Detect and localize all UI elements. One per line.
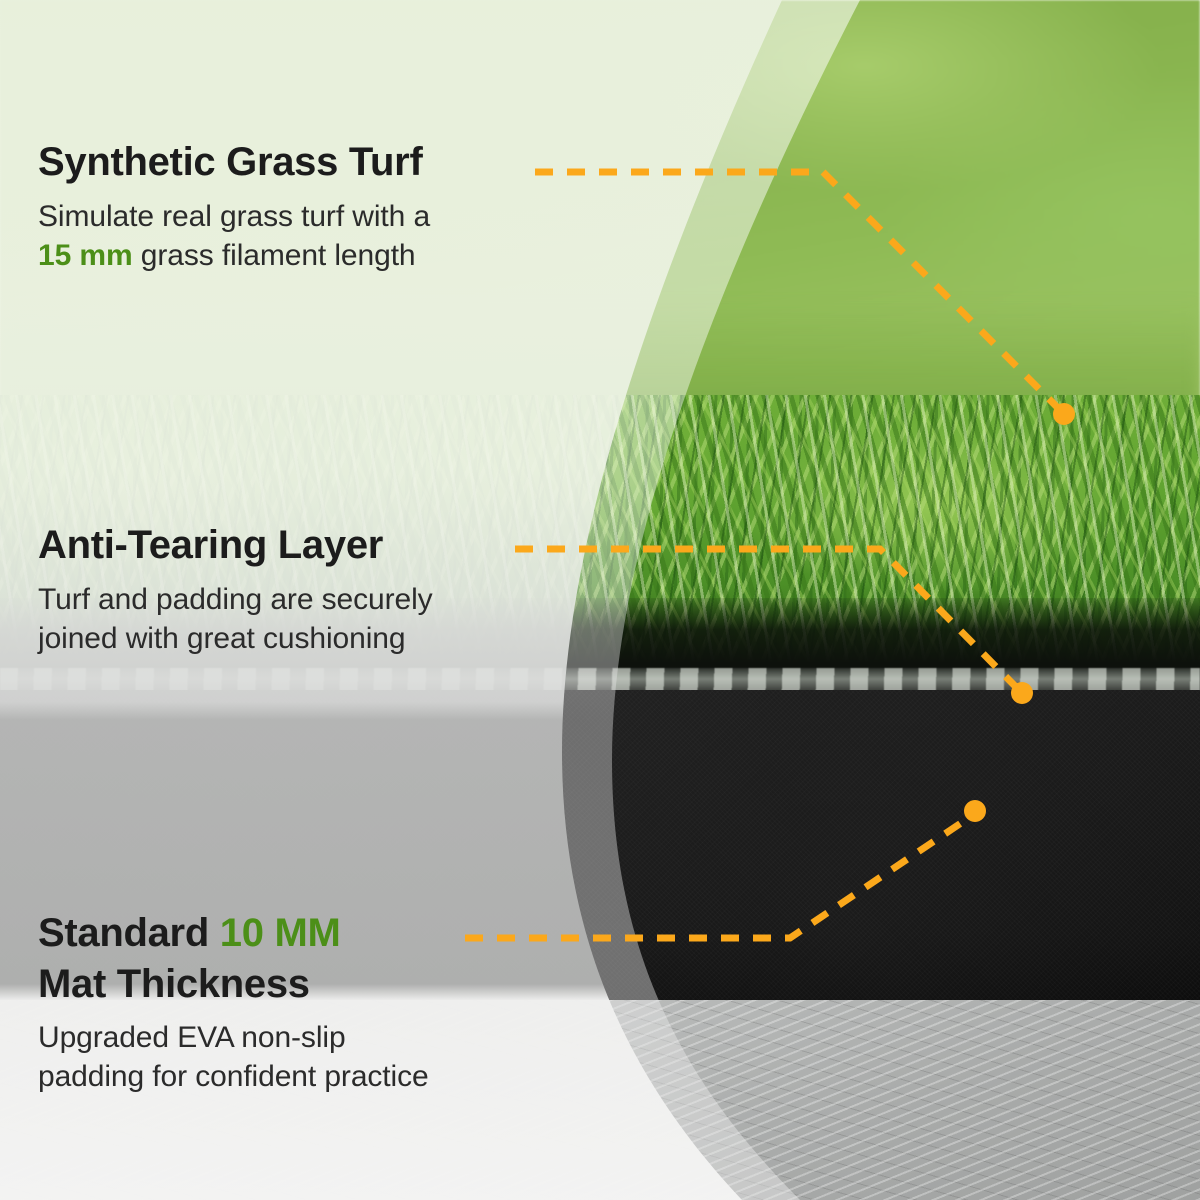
feature-title-thickness-lead: Standard xyxy=(38,911,220,955)
feature-desc-turf-measure: 15 mm xyxy=(38,239,133,272)
feature-title-turf: Synthetic Grass Turf xyxy=(38,140,430,185)
feature-title-antitearing: Anti-Tearing Layer xyxy=(38,523,433,568)
callout-line-antitearing xyxy=(515,549,1016,687)
feature-block-turf: Synthetic Grass Turf Simulate real grass… xyxy=(38,140,430,275)
feature-desc-turf: Simulate real grass turf with a 15 mm gr… xyxy=(38,197,430,275)
feature-title-thickness-measure: 10 MM xyxy=(220,911,341,955)
callout-dot-turf xyxy=(1053,403,1075,425)
feature-desc-thickness: Upgraded EVA non-slip padding for confid… xyxy=(38,1018,429,1096)
feature-desc-antitearing-line2: joined with great cushioning xyxy=(38,622,405,655)
callout-line-thickness xyxy=(465,817,970,938)
feature-desc-antitearing: Turf and padding are securely joined wit… xyxy=(38,580,433,658)
feature-desc-antitearing-line1: Turf and padding are securely xyxy=(38,583,433,616)
feature-block-thickness: Standard 10 MM Mat Thickness Upgraded EV… xyxy=(38,908,429,1096)
callout-dot-antitearing xyxy=(1011,682,1033,704)
callout-dot-thickness xyxy=(964,800,986,822)
product-infographic: Synthetic Grass Turf Simulate real grass… xyxy=(0,0,1200,1200)
callout-line-turf xyxy=(535,172,1058,408)
feature-title-thickness-line2: Mat Thickness xyxy=(38,962,310,1006)
feature-desc-turf-line2: grass filament length xyxy=(133,239,416,272)
feature-desc-turf-line1: Simulate real grass turf with a xyxy=(38,200,430,233)
feature-desc-thickness-line1: Upgraded EVA non-slip xyxy=(38,1021,346,1054)
feature-desc-thickness-line2: padding for confident practice xyxy=(38,1060,429,1093)
feature-title-thickness: Standard 10 MM Mat Thickness xyxy=(38,908,429,1010)
feature-block-antitearing: Anti-Tearing Layer Turf and padding are … xyxy=(38,523,433,658)
